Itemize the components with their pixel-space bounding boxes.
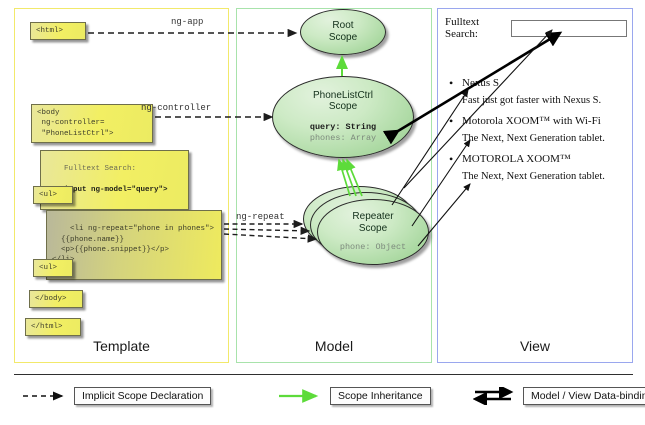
phone-title: Nexus S	[445, 77, 627, 89]
root-scope-title-2: Scope	[329, 32, 357, 43]
view-search-input[interactable]	[511, 20, 627, 37]
code-box-body-open: <body ng-controller= "PhoneListCtrl">	[31, 104, 153, 143]
ctrl-scope-title-1: PhoneListCtrl	[313, 90, 373, 101]
phone-snippet: The Next, Next Generation tablet.	[445, 171, 627, 182]
code-box-ul-close: <ul>	[33, 259, 73, 277]
list-item: Motorola XOOM™ with Wi-Fi The Next, Next…	[445, 115, 627, 144]
view-rendered-output: Fulltext Search: Nexus S Fast just got f…	[445, 16, 627, 191]
root-scope-node: Root Scope	[300, 9, 386, 55]
legend-entry-implicit-scope: Implicit Scope Declaration	[22, 386, 211, 406]
legend-double-arrow-icon	[473, 387, 517, 405]
diagram-canvas: Template Model View <html> <body ng-cont…	[0, 0, 645, 425]
view-panel-label: View	[438, 338, 632, 354]
phone-snippet: The Next, Next Generation tablet.	[445, 133, 627, 144]
model-panel: Model	[236, 8, 432, 363]
legend-dashed-arrow-icon	[22, 389, 68, 403]
ctrl-scope-title-2: Scope	[329, 101, 357, 112]
legend-divider	[14, 374, 633, 375]
template-panel-label: Template	[15, 338, 228, 354]
code-li-line2: {{phone.name}}	[52, 236, 124, 244]
phonelistctrl-scope-node: PhoneListCtrl Scope query: String phones…	[272, 76, 414, 158]
code-search-label: Fulltext Search:	[64, 165, 136, 173]
repeater-scope-prop-phone: phone: Object	[340, 242, 406, 253]
model-panel-label: Model	[237, 338, 431, 354]
ctrl-scope-prop-phones: phones: Array	[310, 133, 376, 144]
repeater-scope-title-1: Repeater	[352, 211, 393, 222]
legend-green-arrow-icon	[278, 389, 324, 403]
code-li-line1: <li ng-repeat="phone in phones">	[70, 225, 214, 233]
repeater-scope-node: Repeater Scope phone: Object	[317, 199, 429, 265]
repeater-scope-title-2: Scope	[359, 223, 387, 234]
code-li-line3: <p>{{phone.snippet}}</p>	[52, 246, 169, 254]
ctrl-scope-prop-query: query: String	[310, 122, 376, 133]
legend-entry-data-binding: Model / View Data-binding	[473, 386, 645, 406]
code-box-html-open: <html>	[30, 22, 86, 40]
view-phone-list: Nexus S Fast just got faster with Nexus …	[445, 77, 627, 182]
root-scope-title-1: Root	[332, 20, 353, 31]
phone-snippet: Fast just got faster with Nexus S.	[445, 95, 627, 106]
phone-title: MOTOROLA XOOM™	[445, 153, 627, 165]
list-item: Nexus S Fast just got faster with Nexus …	[445, 77, 627, 106]
view-search-row: Fulltext Search:	[445, 16, 627, 40]
code-box-body-close: </body>	[29, 290, 83, 308]
code-box-html-close: </html>	[25, 318, 81, 336]
phone-title: Motorola XOOM™ with Wi-Fi	[445, 115, 627, 127]
legend-label-implicit-scope: Implicit Scope Declaration	[74, 387, 211, 405]
code-search-input-markup: <input ng-model="query">	[60, 186, 168, 194]
legend-label-scope-inheritance: Scope Inheritance	[330, 387, 431, 405]
legend-label-data-binding: Model / View Data-binding	[523, 387, 645, 405]
code-box-ul-open: <ul>	[33, 186, 73, 204]
view-search-label: Fulltext Search:	[445, 16, 506, 40]
legend-entry-scope-inheritance: Scope Inheritance	[278, 386, 431, 406]
list-item: MOTOROLA XOOM™ The Next, Next Generation…	[445, 153, 627, 182]
